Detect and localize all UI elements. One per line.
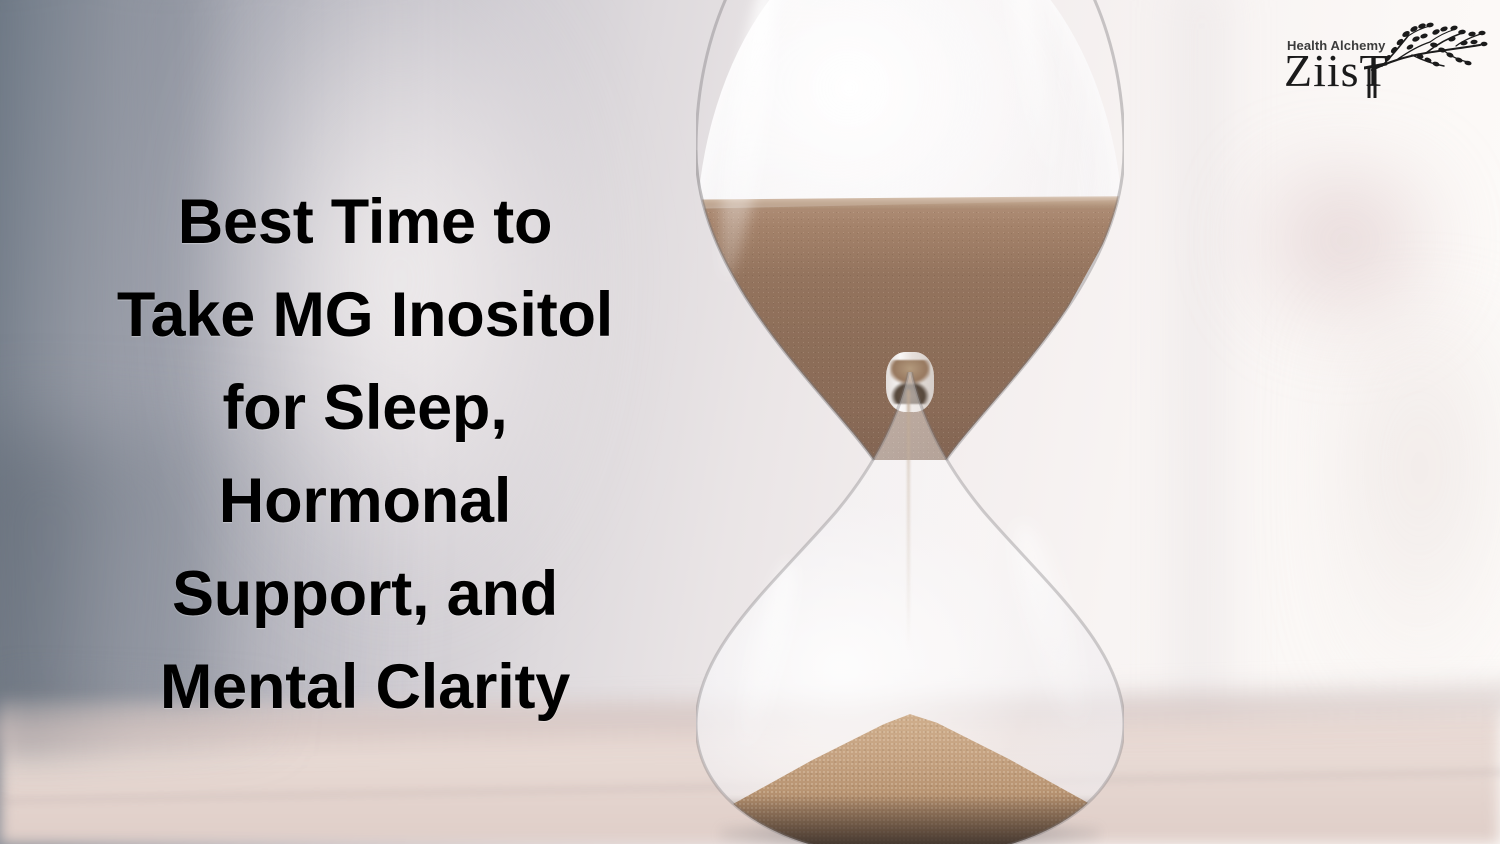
hourglass-illustration (690, 0, 1130, 840)
hourglass-top-sand-surface (676, 196, 1146, 210)
logo-wordmark: ZiisT (1284, 48, 1389, 94)
hourglass-bottom-sand-clip (696, 372, 1124, 844)
page-title: Best Time to Take MG Inositol for Sleep,… (60, 176, 670, 734)
background-pole-blur (1160, 0, 1250, 770)
poster-canvas: Best Time to Take MG Inositol for Sleep,… (0, 0, 1500, 844)
background-warm-blob-secondary (1320, 300, 1500, 720)
brand-logo[interactable]: Health Alchemy ZiisT (1278, 12, 1488, 104)
